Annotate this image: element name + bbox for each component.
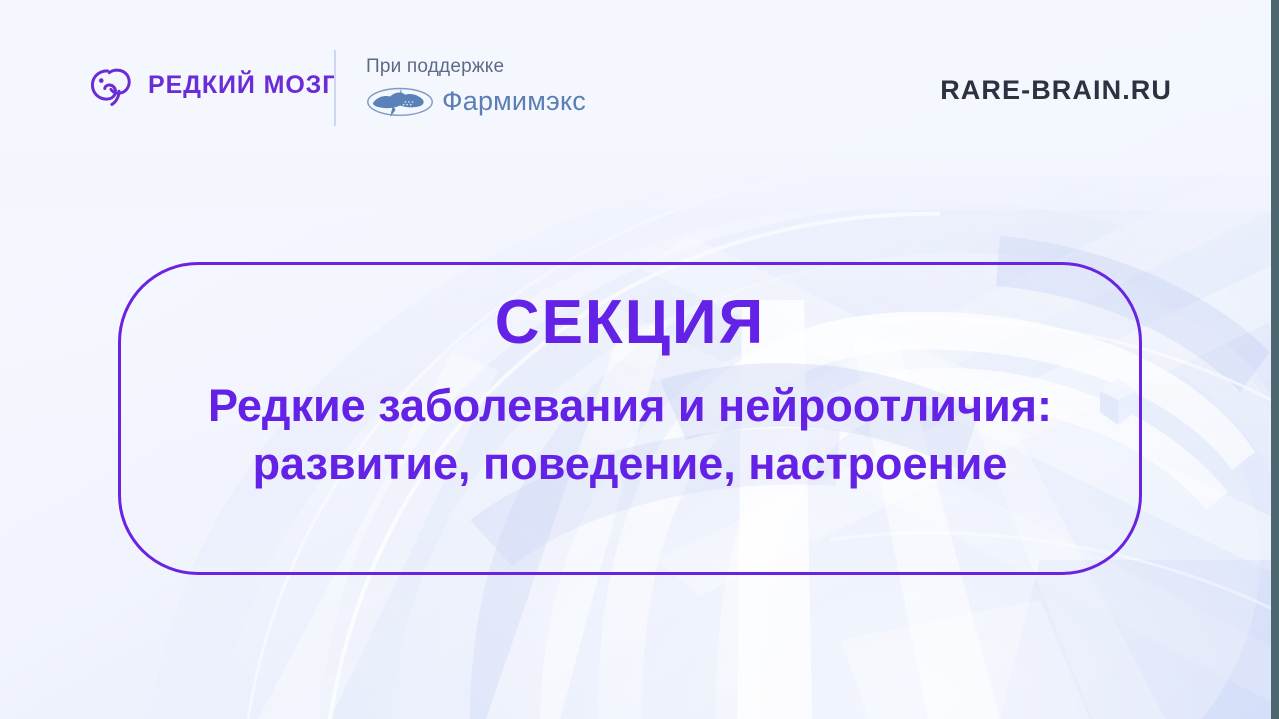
site-url: RARE-BRAIN.RU [940, 75, 1172, 106]
slide-header: РЕДКИЙ МОЗГ При поддержке Фармимэкс [0, 0, 1279, 160]
section-title: Редкие заболевания и нейроотличия: разви… [208, 377, 1052, 492]
sponsor-prefix-label: При поддержке [366, 56, 586, 78]
sponsor-name: Фармимэкс [442, 86, 586, 117]
brain-spiral-logo-icon [88, 62, 134, 108]
section-kicker: СЕКЦИЯ [495, 290, 765, 355]
sponsor-block: При поддержке Фармимэкс [366, 56, 586, 119]
section-callout-card: СЕКЦИЯ Редкие заболевания и нейроотличия… [118, 262, 1142, 575]
header-divider [334, 50, 336, 126]
brand-lockup: РЕДКИЙ МОЗГ [88, 62, 337, 108]
sponsor-lockup: Фармимэкс [366, 83, 586, 119]
russia-map-oval-logo-icon [366, 83, 434, 119]
presentation-slide: РЕДКИЙ МОЗГ При поддержке Фармимэкс [0, 0, 1279, 719]
brand-name: РЕДКИЙ МОЗГ [148, 71, 337, 100]
